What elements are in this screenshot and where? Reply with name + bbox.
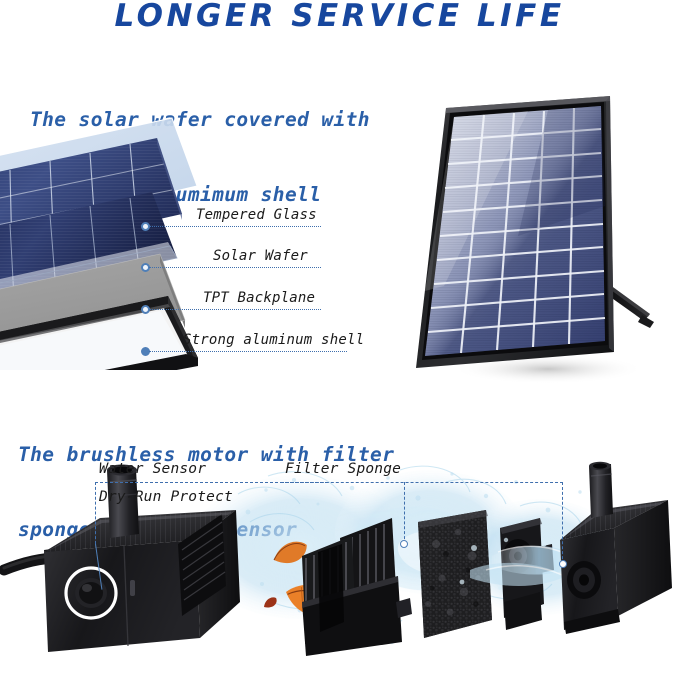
filter-sponge-pointer-line bbox=[404, 482, 405, 544]
callout-label: Solar Wafer bbox=[213, 248, 308, 264]
pump-right-outlet-nozzle bbox=[589, 462, 613, 518]
label-filter-sponge: Filter Sponge bbox=[285, 461, 401, 477]
callout-label: Tempered Glass bbox=[196, 207, 317, 223]
filter-sponge-dot-icon-2 bbox=[559, 560, 567, 568]
infographic-canvas: LONGER SERVICE LIFE The solar wafer cove… bbox=[0, 0, 679, 673]
callout-leader-line bbox=[149, 226, 321, 227]
water-sensor-button bbox=[75, 578, 107, 608]
pump-right-assembled bbox=[560, 462, 672, 634]
callout-leader-line bbox=[149, 267, 321, 268]
solar-panel-exploded-diagram bbox=[0, 108, 242, 370]
panel-cell-array bbox=[425, 106, 605, 356]
filter-sponge-bracket bbox=[281, 482, 563, 564]
label-water-sensor: Water Sensor bbox=[99, 461, 206, 477]
callout-leader-line bbox=[149, 309, 321, 310]
callout-label: Strong aluminum shell bbox=[183, 332, 364, 348]
callout-leader-line bbox=[149, 351, 347, 352]
solar-panel-product-photo bbox=[398, 86, 679, 386]
filter-sponge-dot-icon bbox=[400, 540, 408, 548]
page-title: LONGER SERVICE LIFE bbox=[0, 0, 679, 34]
callout-label: TPT Backplane bbox=[203, 290, 315, 306]
label-dry-run-protect: Dry-Run Protect bbox=[99, 489, 233, 505]
